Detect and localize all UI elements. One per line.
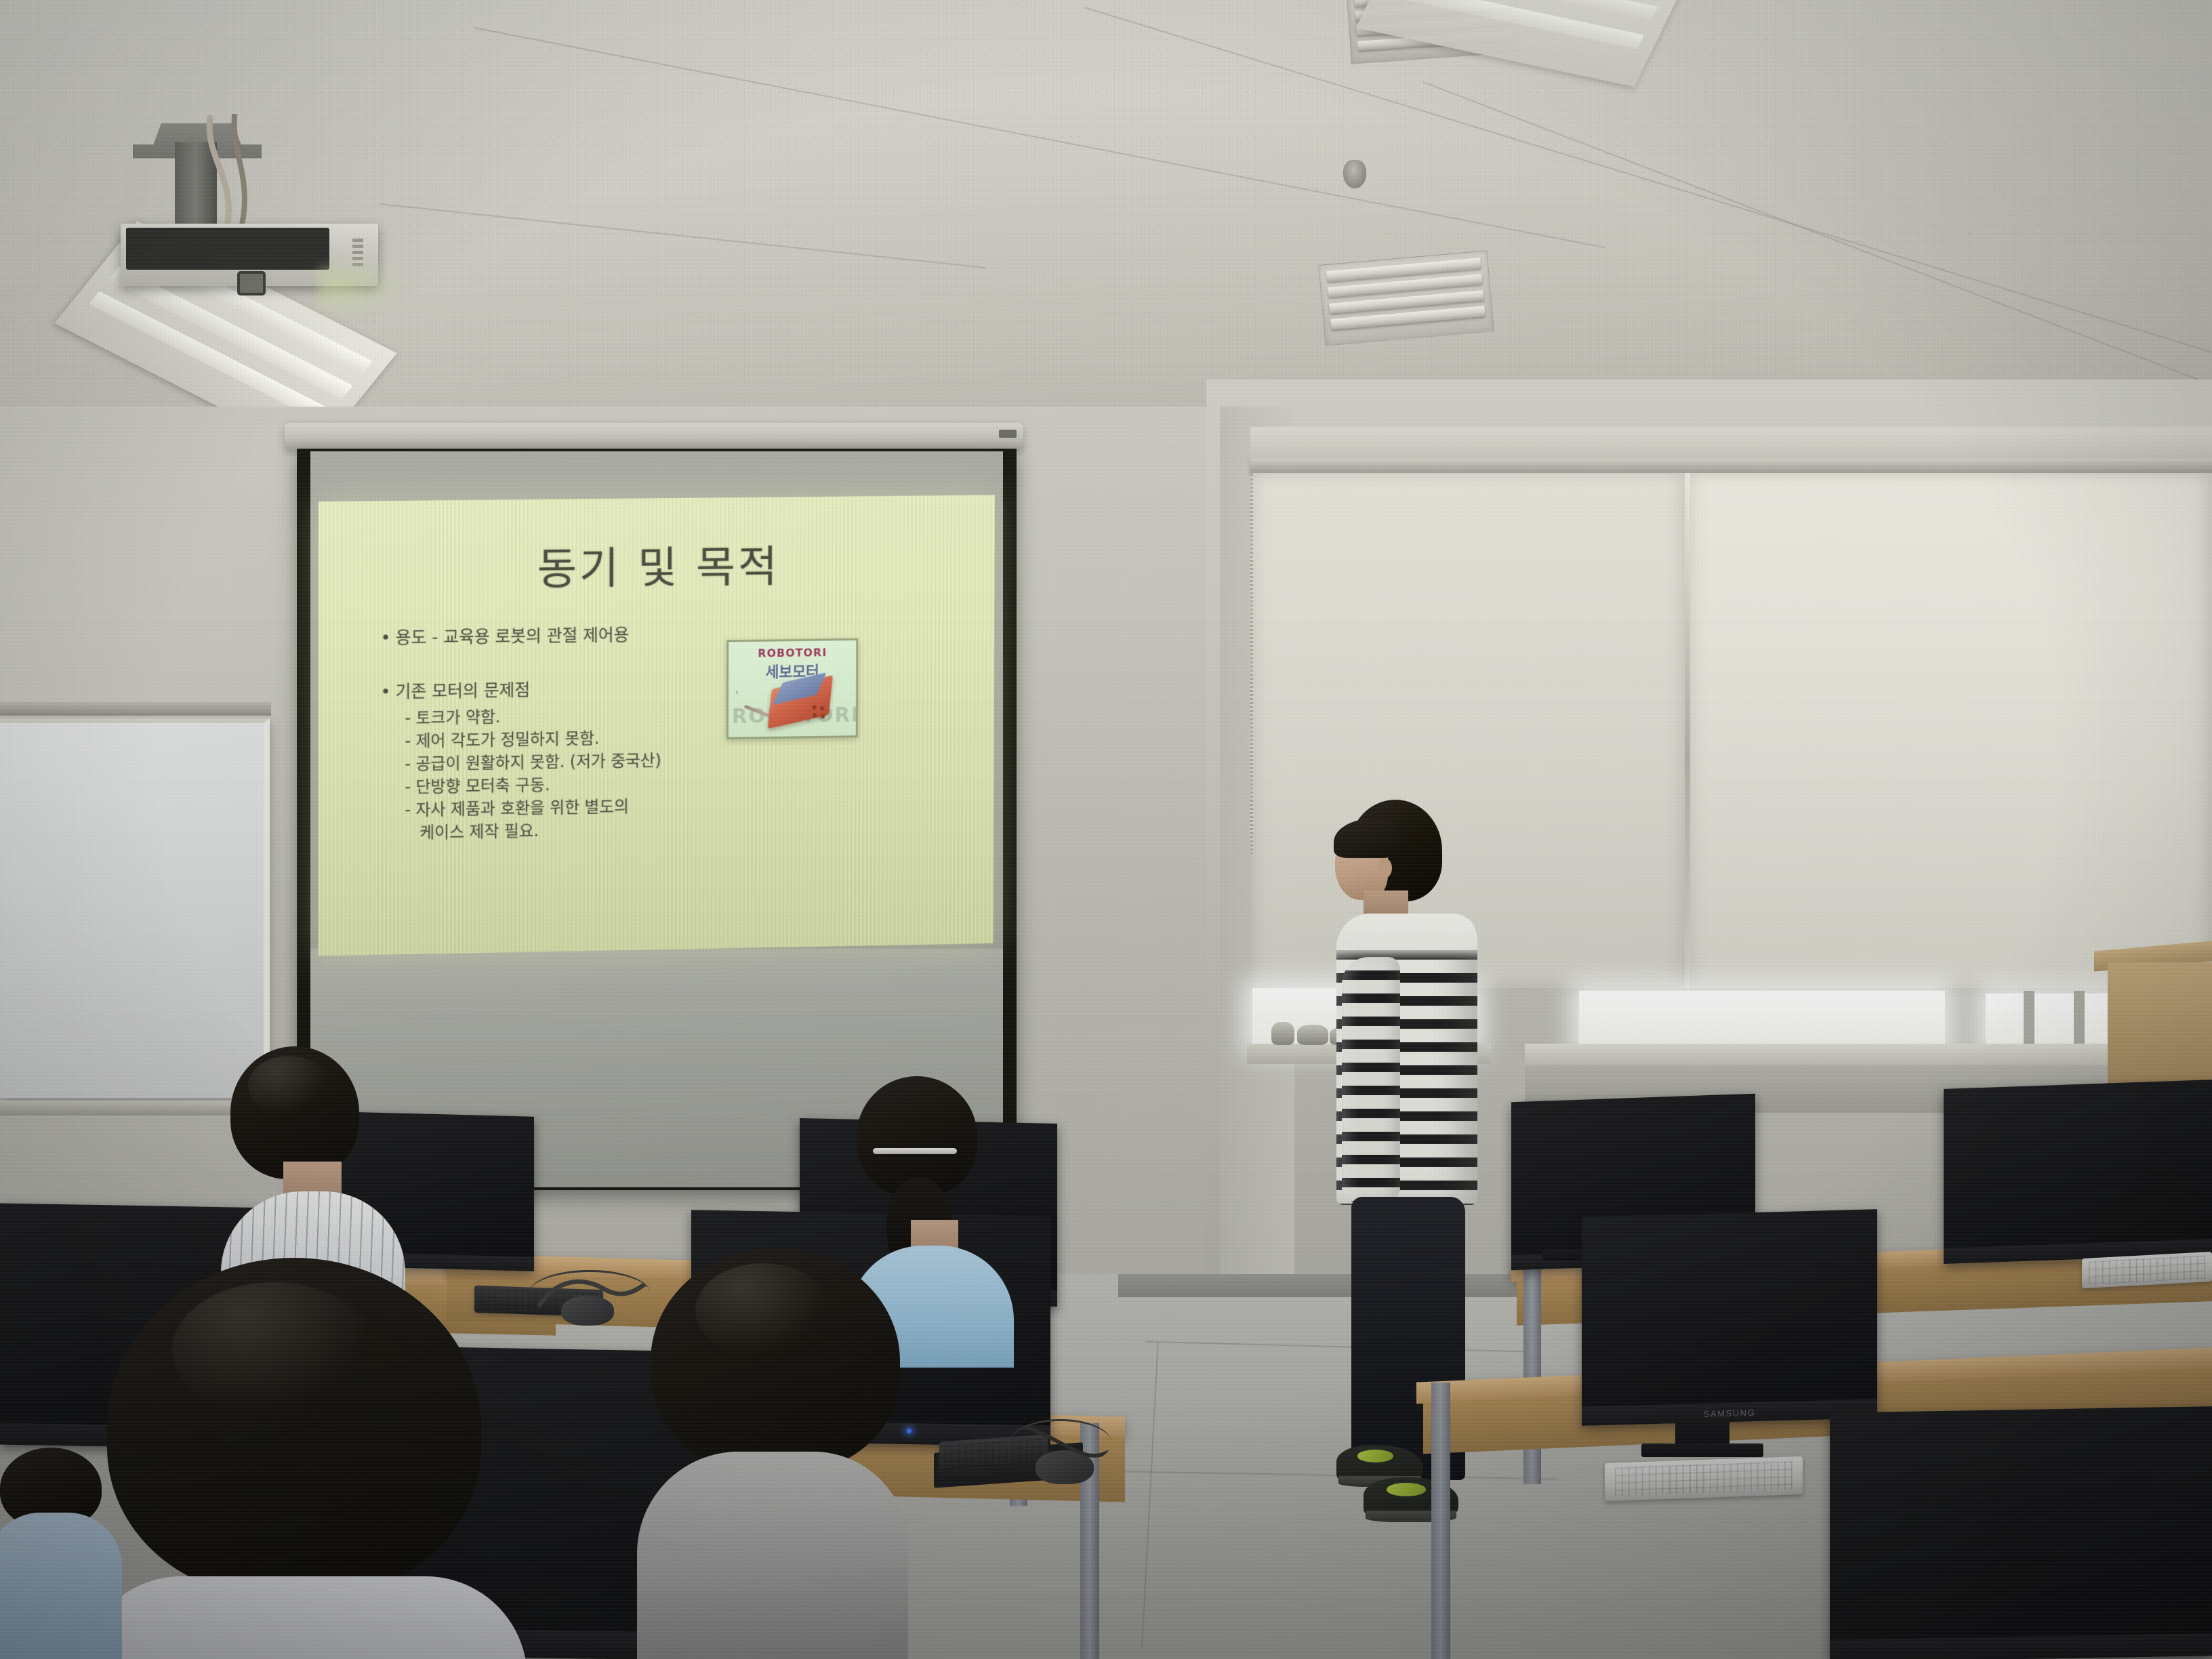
blind-pull-chain[interactable]: [1250, 474, 1253, 854]
monitor[interactable]: [1944, 1080, 2212, 1264]
desk-leg: [1523, 1267, 1541, 1484]
shoe-lace: [1387, 1483, 1427, 1496]
projection-screen-case[interactable]: [285, 423, 1023, 450]
bullet-text: 기존 모터의 문제점: [396, 680, 530, 702]
bullet-marker-icon: •: [381, 683, 396, 701]
hair-highlight: [248, 1056, 329, 1117]
sill-object: [1271, 1022, 1294, 1045]
hair-highlight: [172, 1282, 375, 1418]
presenter-ear: [1377, 858, 1392, 878]
projector-light-glow: [319, 264, 407, 319]
projector-lens-icon: [237, 271, 266, 295]
desk-cable-icon: [529, 1270, 651, 1317]
screen-case-end-cap: [999, 430, 1017, 438]
product-subtitle-text: 세보모터: [729, 659, 856, 682]
ceiling-sprinkler-icon: [1343, 160, 1366, 188]
slide-title: 동기 및 목적: [319, 530, 995, 599]
hair-highlight: [695, 1263, 831, 1358]
slide-bullet: •용도 - 교육용 로봇의 관절 제어용: [381, 625, 756, 647]
product-image-card: ROBOTORI ROBOTORI 세보모터 ‹: [726, 638, 858, 739]
window-bright-mid: [1579, 991, 1945, 1049]
presenter-shirt-shoulder: [1336, 914, 1477, 961]
bullet-marker-icon: •: [381, 629, 396, 647]
student-far-left: [0, 1448, 122, 1659]
monitor-samsung[interactable]: SAMSUNG: [1582, 1209, 1877, 1425]
desk-cable-icon: [1010, 1419, 1111, 1467]
whiteboard-rail: [0, 702, 271, 716]
student-top: [0, 1513, 122, 1659]
hairband: [873, 1148, 957, 1154]
product-brand-text: ROBOTORI: [729, 646, 856, 660]
presenter-hair-fringe: [1334, 819, 1399, 858]
student-front-left: [107, 1258, 514, 1659]
desk-leg: [1431, 1382, 1450, 1659]
monitor-bezel: [1830, 1633, 2212, 1659]
student-top: [637, 1452, 908, 1659]
slide-bullet: •기존 모터의 문제점: [381, 678, 756, 701]
student-front-center: [637, 1248, 922, 1659]
keyboard-keys: [1615, 1461, 1793, 1496]
whiteboard[interactable]: [0, 718, 270, 1098]
keyboard-keys: [2089, 1256, 2206, 1285]
monitor-base: [1641, 1443, 1763, 1457]
slide-body: •용도 - 교육용 로봇의 관절 제어용 •기존 모터의 문제점 - 토크가 약…: [381, 625, 756, 845]
shoe-lace: [1357, 1450, 1394, 1462]
product-tick-mark: ‹: [735, 687, 739, 697]
lectern: [2108, 962, 2212, 1084]
servo-mount-holes-icon: [812, 705, 830, 718]
blind-seam: [1685, 473, 1690, 988]
hvac-diffuser: [1318, 250, 1494, 346]
bullet-text: 용도 - 교육용 로봇의 관절 제어용: [396, 625, 630, 647]
presenter-arm: [1342, 957, 1400, 1202]
student-shirt: [80, 1576, 527, 1659]
keyboard[interactable]: [1605, 1456, 1803, 1501]
window-mullion: [2024, 991, 2034, 1052]
blind-valance: [1250, 427, 2212, 462]
sill-object: [1297, 1025, 1328, 1045]
monitor[interactable]: [1830, 1406, 2212, 1659]
classroom-photo: 동기 및 목적 •용도 - 교육용 로봇의 관절 제어용 •기존 모터의 문제점…: [0, 0, 2212, 1659]
slide-spacer: [381, 648, 756, 684]
roller-blind-right[interactable]: [1689, 473, 2212, 988]
blind-track[interactable]: [1250, 458, 2212, 473]
projected-slide: 동기 및 목적 •용도 - 교육용 로봇의 관절 제어용 •기존 모터의 문제점…: [319, 495, 995, 956]
projector-vent: [352, 239, 363, 267]
window-mullion: [2074, 991, 2085, 1052]
projector-front-panel: [126, 228, 329, 270]
